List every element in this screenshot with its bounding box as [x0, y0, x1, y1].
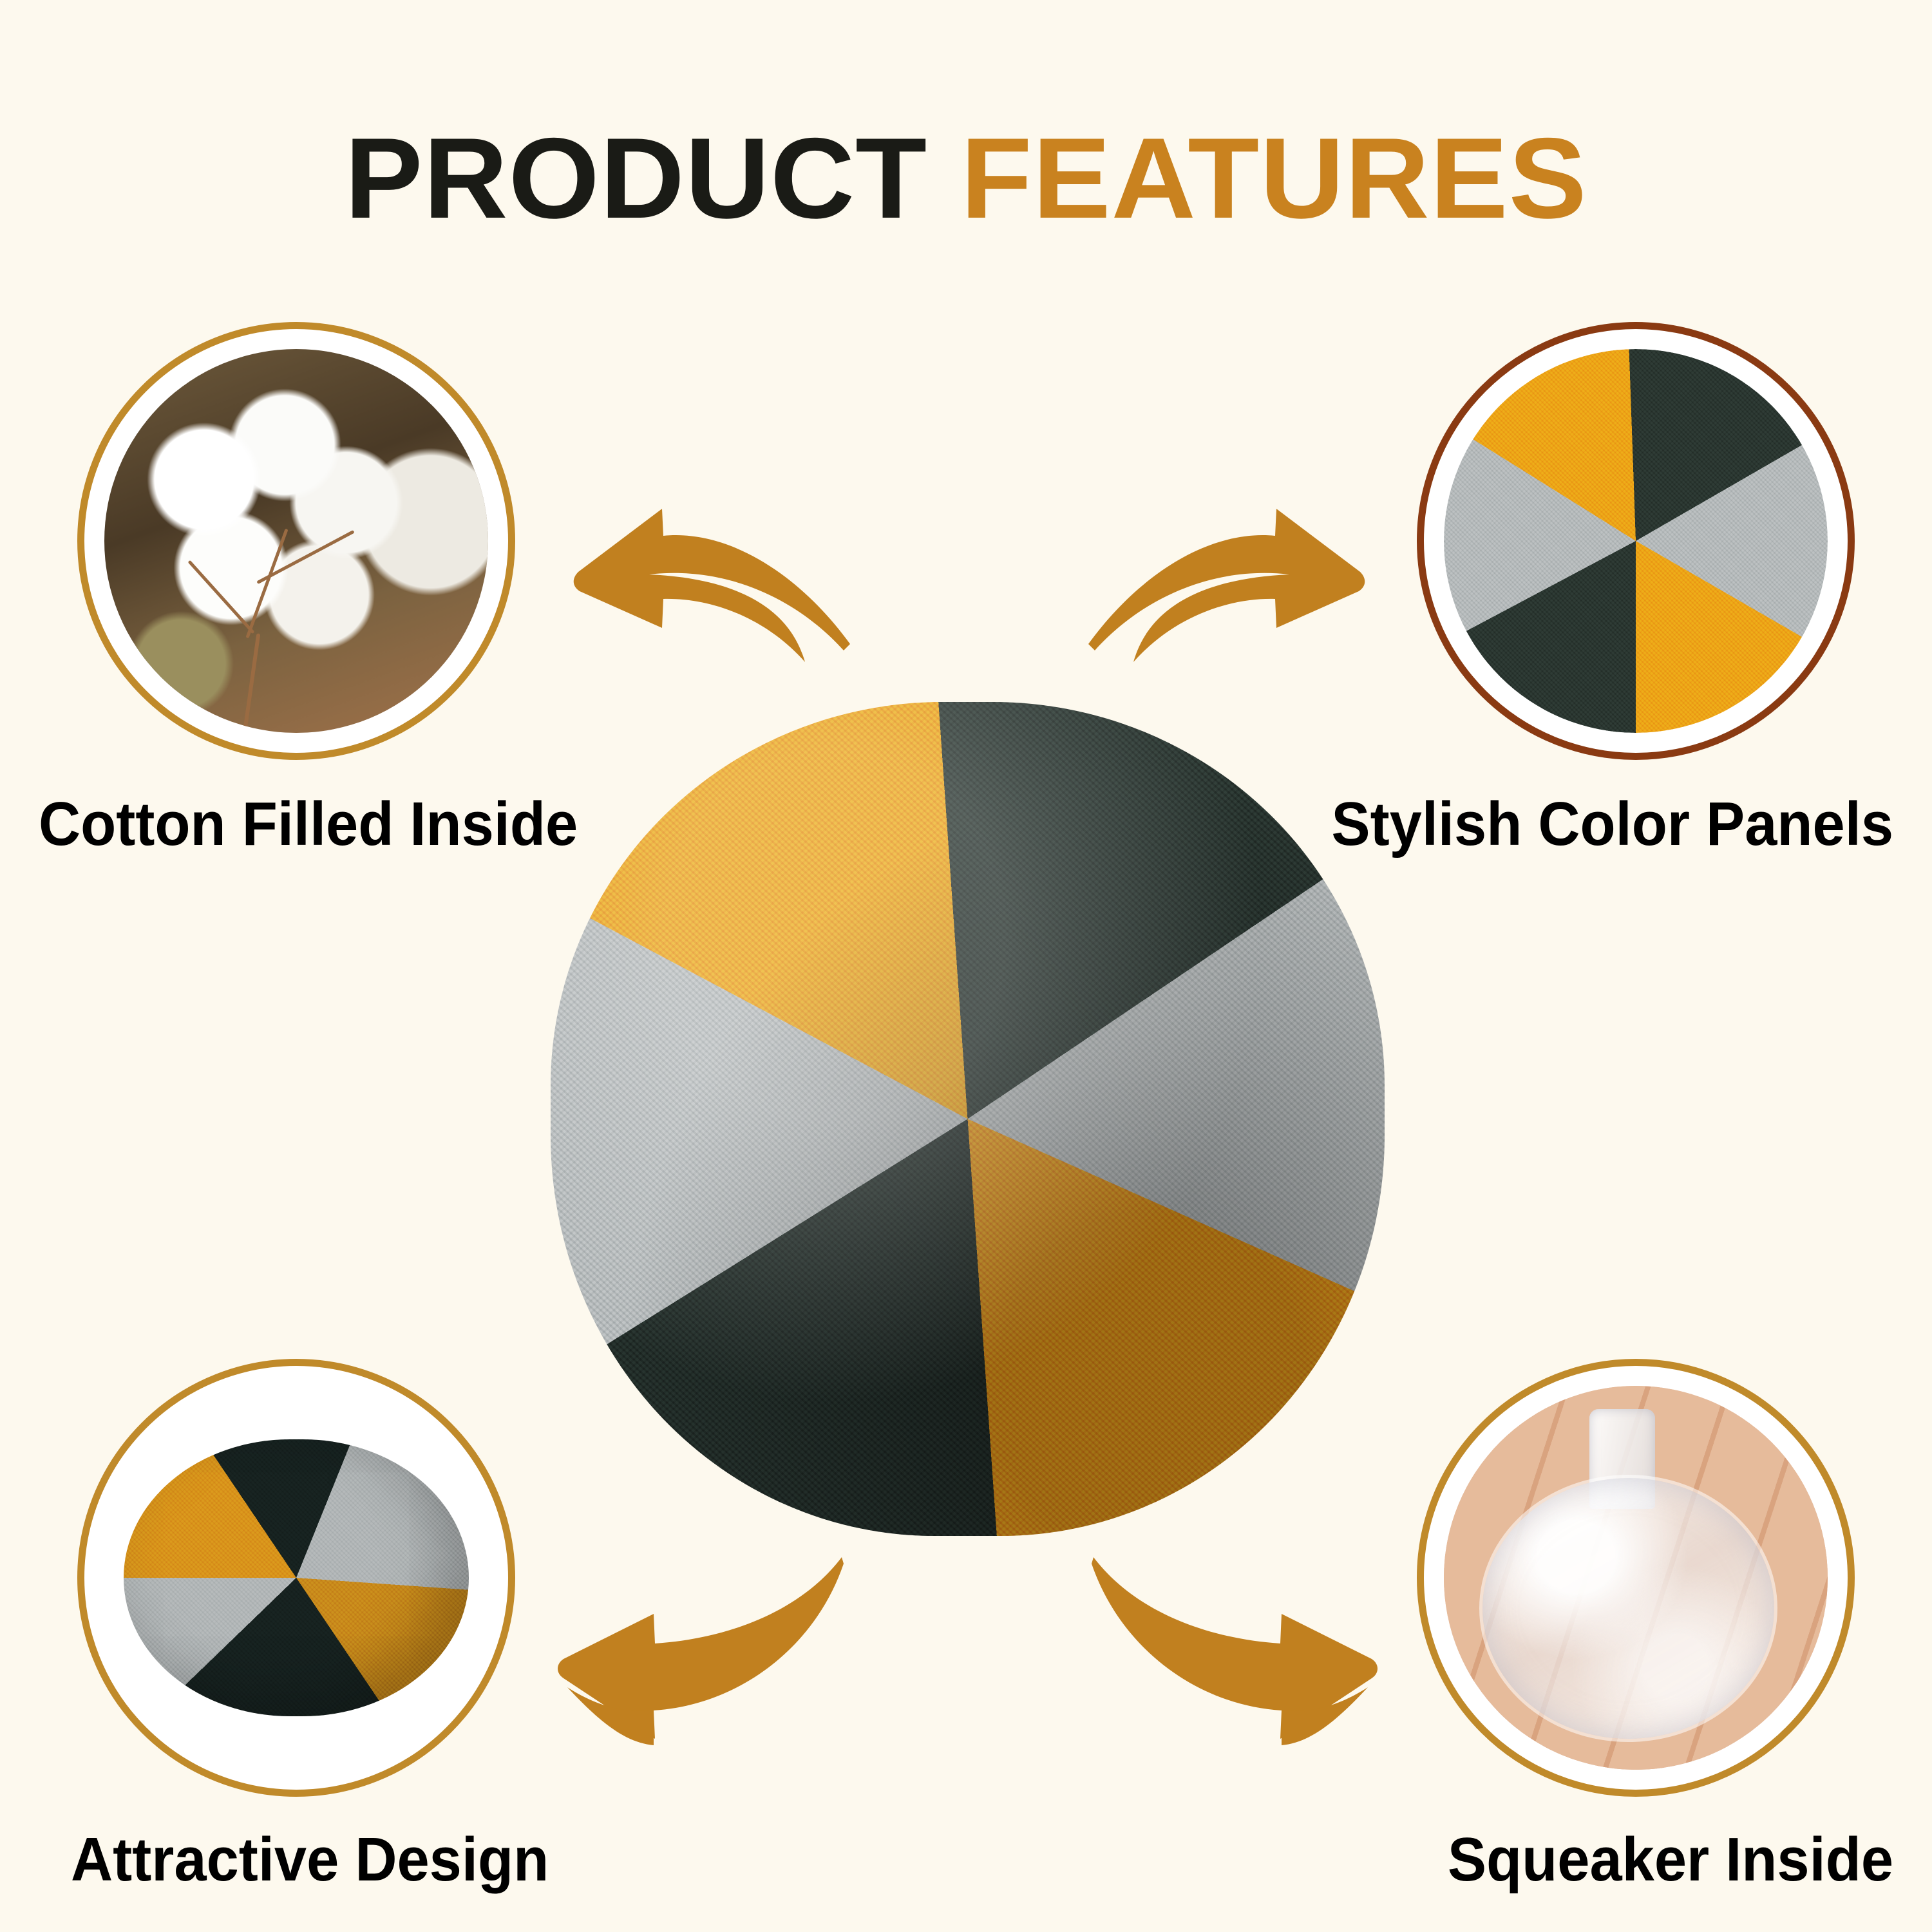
arrow-down-right-icon [1088, 1552, 1391, 1758]
knit-ball-angle-photo [104, 1386, 488, 1770]
page-title: PRODUCT FEATURES [0, 121, 1932, 236]
feature-image-frame-cotton [77, 322, 515, 760]
feature-image-frame-design [77, 1359, 515, 1797]
feature-image-frame-panels [1417, 322, 1855, 760]
title-word-product: PRODUCT [345, 114, 927, 242]
feature-card-squeaker[interactable] [1417, 1359, 1855, 1797]
feature-image-frame-squeaker [1417, 1359, 1855, 1797]
arrow-up-right-icon [1088, 496, 1372, 670]
color-panel-closeup-photo [1444, 349, 1828, 733]
feature-card-cotton[interactable] [77, 322, 515, 760]
feature-label-squeaker: Squeaker Inside [1288, 1829, 1893, 1891]
arrow-down-left-icon [544, 1552, 847, 1758]
arrow-up-left-icon [567, 496, 850, 670]
feature-card-panels[interactable] [1417, 322, 1855, 760]
title-word-features: FEATURES [961, 114, 1587, 242]
feature-label-design: Attractive Design [71, 1829, 676, 1891]
infographic-canvas: PRODUCT FEATURES Cotton Filled Inside [0, 0, 1932, 1932]
plastic-squeaker-in-hand-photo [1444, 1386, 1828, 1770]
cotton-boll-photo [104, 349, 488, 733]
feature-card-design[interactable] [77, 1359, 515, 1797]
product-ball-image [551, 702, 1385, 1536]
